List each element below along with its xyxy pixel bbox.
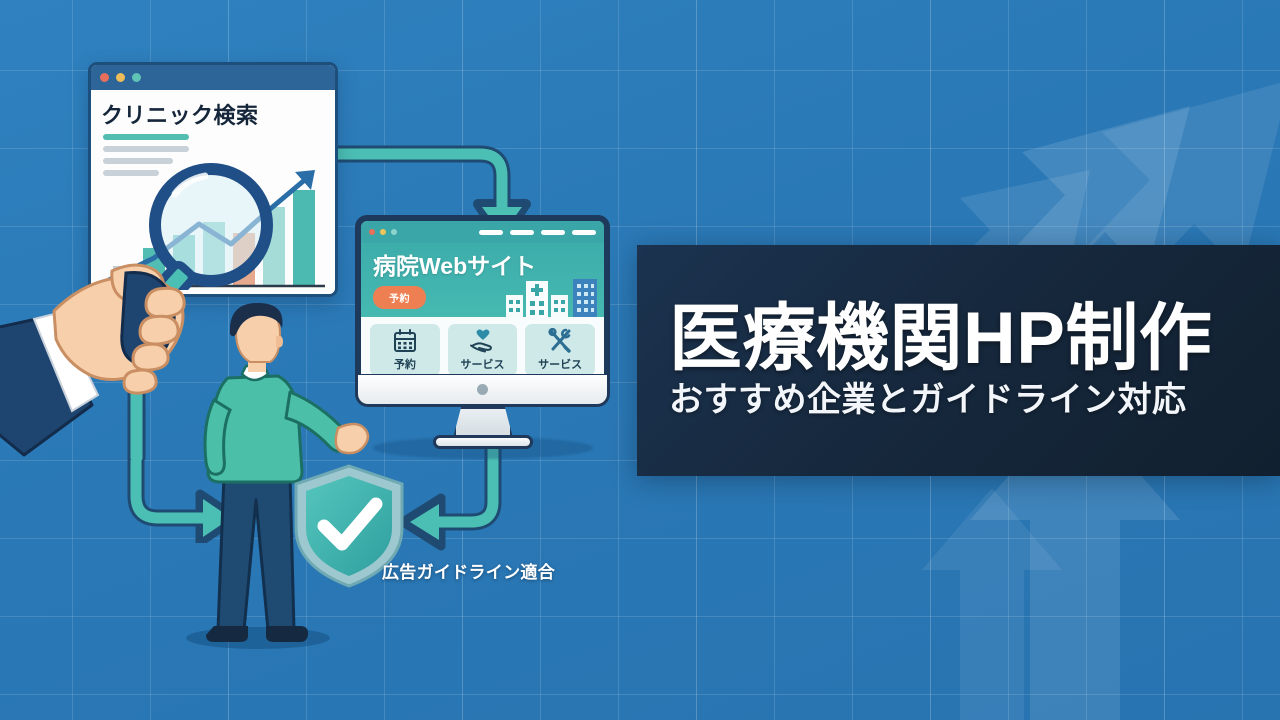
site-service-cards: 予約 サービス bbox=[361, 317, 604, 374]
nav-dash-4[interactable] bbox=[572, 230, 596, 235]
site-minimize-dot-icon[interactable] bbox=[380, 229, 386, 235]
title-panel: 医療機関HP制作 おすすめ企業とガイドライン対応 bbox=[637, 245, 1280, 476]
heart-in-hand-icon bbox=[469, 328, 497, 354]
nav-dash-2[interactable] bbox=[510, 230, 534, 235]
hospital-building-icons bbox=[504, 275, 600, 317]
text-line-1 bbox=[103, 146, 189, 152]
maximize-dot-icon[interactable] bbox=[132, 73, 141, 82]
service-card-label: サービス bbox=[538, 356, 582, 372]
monitor-power-button-icon[interactable] bbox=[477, 384, 488, 395]
crossed-tools-icon bbox=[547, 328, 573, 354]
close-dot-icon[interactable] bbox=[100, 73, 109, 82]
text-line-accent bbox=[103, 134, 189, 140]
minimize-dot-icon[interactable] bbox=[116, 73, 125, 82]
poster-canvas: クリニック検索 bbox=[0, 0, 1280, 720]
nav-dash-1[interactable] bbox=[479, 230, 503, 235]
hand-holding-magnifier bbox=[0, 255, 210, 460]
reservation-badge[interactable]: 予約 bbox=[373, 286, 426, 309]
site-close-dot-icon[interactable] bbox=[369, 229, 375, 235]
monitor-stand-neck bbox=[453, 406, 513, 438]
site-hero: 病院Webサイト 予約 bbox=[361, 243, 604, 317]
site-nav[interactable] bbox=[479, 230, 596, 235]
page-subtitle: おすすめ企業とガイドライン対応 bbox=[669, 382, 1280, 419]
shield-label: 広告ガイドライン適合 bbox=[382, 558, 555, 583]
monitor-bezel bbox=[355, 375, 610, 407]
service-card-tools[interactable]: サービス bbox=[525, 324, 595, 374]
service-card-label: 予約 bbox=[394, 356, 416, 372]
page-title: 医療機関HP制作 bbox=[669, 302, 1280, 376]
service-card-label: サービス bbox=[461, 356, 505, 372]
service-card-reservation[interactable]: 予約 bbox=[370, 324, 440, 374]
nav-dash-3[interactable] bbox=[541, 230, 565, 235]
calendar-icon bbox=[392, 328, 418, 354]
desktop-monitor[interactable]: 病院Webサイト 予約 bbox=[355, 215, 610, 465]
monitor-screen-content: 病院Webサイト 予約 bbox=[361, 221, 604, 374]
monitor-stand-base bbox=[433, 435, 533, 449]
browser-page-title: クリニック検索 bbox=[101, 98, 325, 130]
browser-titlebar bbox=[91, 65, 335, 90]
site-header-bar bbox=[361, 221, 604, 243]
monitor-screen: 病院Webサイト 予約 bbox=[355, 215, 610, 380]
service-card-care[interactable]: サービス bbox=[448, 324, 518, 374]
site-maximize-dot-icon[interactable] bbox=[391, 229, 397, 235]
